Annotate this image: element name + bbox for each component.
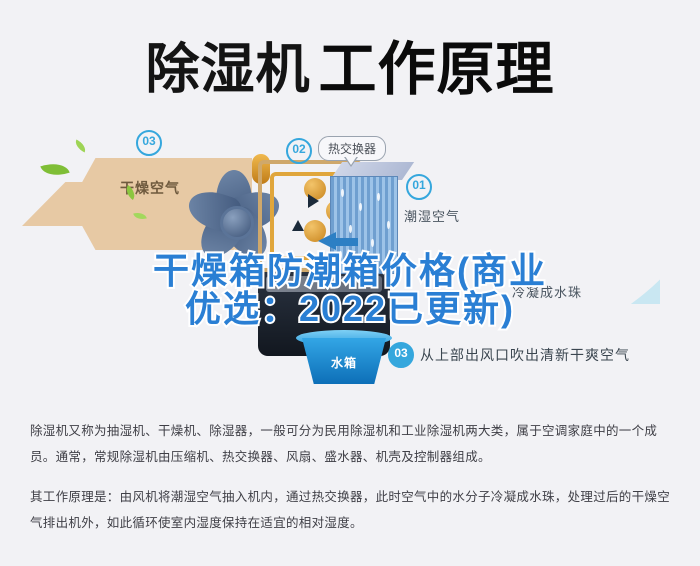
intake-arrow-bar [336,238,358,246]
body-paragraph-2: 其工作原理是：由风机将潮湿空气抽入机内，通过热交换器，此时空气中的水分子冷凝成水… [30,484,670,536]
water-tank-label: 水箱 [296,354,392,371]
watermark-overlay: 干燥箱防潮箱价格(商业 优选：2022已更新) [0,252,700,328]
watermark-line-1: 干燥箱防潮箱价格(商业 [0,252,700,290]
page-root: 除湿机工作原理 干燥空气 [0,0,700,566]
humid-air-label: 潮湿空气 [404,206,460,225]
water-tank-graphic: 水箱 [296,330,392,388]
body-paragraph-1: 除湿机又称为抽湿机、干燥机、除湿器，一般可分为民用除湿机和工业除湿机两大类，属于… [30,418,670,470]
title-part-principle: 工作原理 [318,37,554,102]
page-title: 除湿机工作原理 [0,22,700,106]
heat-exchanger-callout: 热交换器 [318,136,386,161]
article-body: 除湿机又称为抽湿机、干燥机、除湿器，一般可分为民用除湿机和工业除湿机两大类，属于… [30,418,670,550]
watermark-line-2: 优选：2022已更新) [0,290,700,328]
outlet-label: 从上部出风口吹出清新干爽空气 [420,345,630,365]
outlet-step-row: 03 从上部出风口吹出清新干爽空气 [388,342,630,368]
step-badge-02: 02 [286,138,312,164]
intake-arrow-icon [318,232,336,250]
leaf-icon [73,140,88,153]
step-badge-01: 01 [406,174,432,200]
step-badge-03-bottom: 03 [388,342,414,368]
title-part-product: 除湿机 [145,40,310,100]
step-badge-03: 03 [136,130,162,156]
